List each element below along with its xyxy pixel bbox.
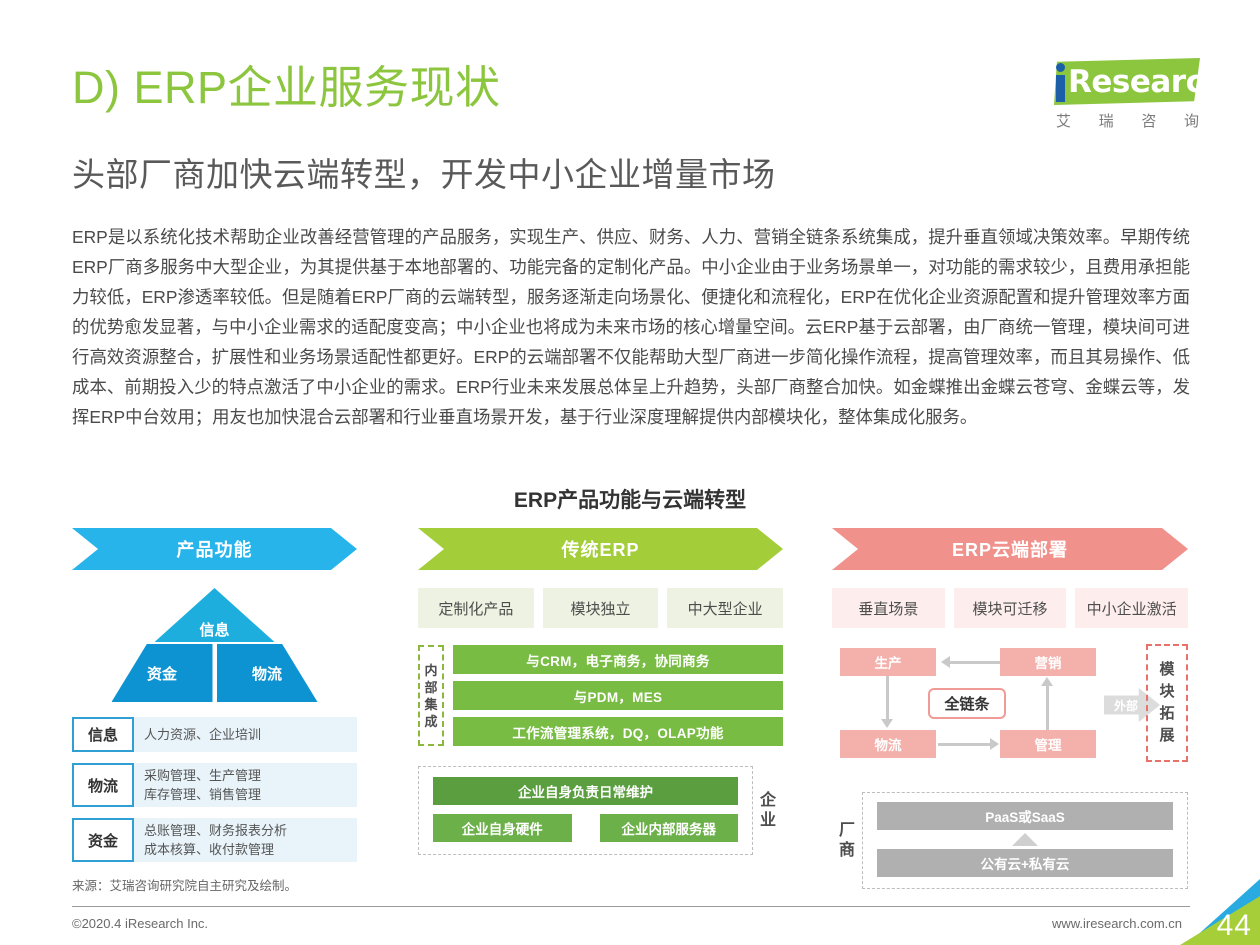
int-label-c3: 集 (424, 696, 437, 713)
vendor-bottom-bar: 公有云+私有云 (877, 849, 1173, 877)
flow-center-chain: 全链条 (928, 688, 1006, 719)
int-label-c2: 部 (424, 679, 437, 696)
page-subtitle: 头部厂商加快云端转型，开发中小企业增量市场 (72, 148, 776, 196)
flow-arrowhead-right (990, 738, 999, 750)
flow-node-management: 管理 (1000, 730, 1096, 758)
enterprise-side-c1: 企 (760, 791, 776, 811)
pyramid-diagram: 信息 资金 物流 (72, 588, 357, 706)
legend-value-line: 采购管理、生产管理 (144, 766, 347, 785)
pyramid-bottom-right-label: 物流 (252, 663, 282, 684)
column-erp-cloud: ERP云端部署 垂直场景 模块可迁移 中小企业激活 生产 营销 物流 管理 全链… (832, 528, 1188, 889)
up-caret-icon (1012, 833, 1038, 846)
internal-integration-bars: 与CRM，电子商务，协同商务 与PDM，MES 工作流管理系统，DQ，OLAP功… (453, 645, 783, 746)
module-ext-c2: 块 (1159, 681, 1174, 703)
flow-node-marketing: 营销 (1000, 648, 1096, 676)
logo-wordmark: Research (1068, 64, 1225, 100)
enterprise-bottom-row: 企业自身硬件 企业内部服务器 (433, 814, 738, 842)
source-note: 来源：艾瑞咨询研究院自主研究及绘制。 (72, 875, 357, 894)
tag-item: 中小企业激活 (1075, 588, 1188, 628)
tag-item: 模块可迁移 (954, 588, 1067, 628)
legend-value: 采购管理、生产管理 库存管理、销售管理 (134, 763, 357, 807)
flow-arrow-marketing-to-production (950, 661, 1000, 664)
vendor-panel: 厂 商 PaaS或SaaS 公有云+私有云 (832, 792, 1188, 889)
internal-integration-block: 内 部 集 成 与CRM，电子商务，协同商务 与PDM，MES 工作流管理系统，… (418, 645, 783, 746)
column-product-function: 产品功能 信息 资金 物流 信息 人力资源、企业培训 物流 采购管理、生产管理 … (72, 528, 357, 894)
module-ext-c3: 拓 (1159, 703, 1174, 725)
vendor-side-c1: 厂 (839, 821, 855, 841)
legend-value-line: 库存管理、销售管理 (144, 785, 347, 804)
tag-item: 模块独立 (543, 588, 659, 628)
tag-item: 垂直场景 (832, 588, 945, 628)
banner-erp-cloud: ERP云端部署 (832, 528, 1188, 570)
legend-row: 资金 总账管理、财务报表分析 成本核算、收付款管理 (72, 818, 357, 862)
legend-row: 信息 人力资源、企业培训 (72, 717, 357, 752)
legend-value-line: 总账管理、财务报表分析 (144, 821, 347, 840)
flow-arrowhead-left (941, 656, 950, 668)
flow-arrow-production-to-logistics (886, 676, 889, 719)
logo-cn-char-4: 询 (1184, 110, 1200, 131)
page-number: 44 (1217, 909, 1252, 943)
pyramid-bottom-left-label: 资金 (147, 663, 177, 684)
iresearch-logo: Research 艾 瑞 咨 询 (1032, 58, 1200, 140)
flow-diagram: 生产 营销 物流 管理 全链条 外部 模 块 拓 (832, 644, 1188, 772)
tag-row-traditional: 定制化产品 模块独立 中大型企业 (418, 588, 783, 628)
logo-cn-char-2: 瑞 (1099, 110, 1115, 131)
chart-title: ERP产品功能与云端转型 (0, 484, 1260, 514)
module-ext-c1: 模 (1159, 659, 1174, 681)
page-title: D) ERP企业服务现状 (72, 63, 501, 113)
enterprise-bottom-bar: 企业内部服务器 (600, 814, 739, 842)
int-label-c4: 成 (424, 713, 437, 730)
slide-page: D) ERP企业服务现状 头部厂商加快云端转型，开发中小企业增量市场 Resea… (0, 0, 1260, 945)
enterprise-side-c2: 业 (760, 811, 776, 831)
legend-key: 资金 (72, 818, 134, 862)
footer-copyright: ©2020.4 iResearch Inc. (72, 916, 208, 931)
logo-chinese-name: 艾 瑞 咨 询 (1056, 110, 1200, 131)
legend-row: 物流 采购管理、生产管理 库存管理、销售管理 (72, 763, 357, 807)
logo-cn-char-3: 咨 (1141, 110, 1157, 131)
integration-bar: 工作流管理系统，DQ，OLAP功能 (453, 717, 783, 746)
column-traditional-erp: 传统ERP 定制化产品 模块独立 中大型企业 内 部 集 成 与CRM，电子商务… (418, 528, 783, 855)
legend-value: 总账管理、财务报表分析 成本核算、收付款管理 (134, 818, 357, 862)
module-extension-box: 模 块 拓 展 (1146, 644, 1188, 762)
pyramid-bottom-right-segment: 物流 (217, 644, 318, 702)
integration-bar: 与CRM，电子商务，协同商务 (453, 645, 783, 674)
vendor-side-label: 厂 商 (832, 792, 862, 889)
enterprise-top-bar: 企业自身负责日常维护 (433, 777, 738, 805)
tag-row-cloud: 垂直场景 模块可迁移 中小企业激活 (832, 588, 1188, 628)
banner-product-function: 产品功能 (72, 528, 357, 570)
footer-divider (72, 906, 1190, 907)
page-number-badge: 44 (1180, 879, 1260, 945)
logo-cn-char-1: 艾 (1056, 110, 1072, 131)
enterprise-panel-inner: 企业自身负责日常维护 企业自身硬件 企业内部服务器 (418, 766, 753, 855)
body-paragraph: ERP是以系统化技术帮助企业改善经营管理的产品服务，实现生产、供应、财务、人力、… (72, 222, 1190, 432)
vendor-top-bar: PaaS或SaaS (877, 802, 1173, 830)
flow-node-logistics: 物流 (840, 730, 936, 758)
legend-value: 人力资源、企业培训 (134, 717, 357, 752)
tag-item: 中大型企业 (667, 588, 783, 628)
int-label-c1: 内 (424, 662, 437, 679)
enterprise-side-label: 企 业 (753, 766, 783, 855)
logo-i-dot-icon (1056, 63, 1065, 72)
module-ext-c4: 展 (1159, 725, 1174, 747)
flow-arrowhead-up (1041, 677, 1053, 686)
pyramid-top-segment: 信息 (155, 588, 275, 642)
vendor-panel-inner: PaaS或SaaS 公有云+私有云 (862, 792, 1188, 889)
flow-arrow-logistics-to-management (938, 743, 990, 746)
footer-website: www.iresearch.com.cn (1052, 916, 1182, 931)
flow-arrowhead-down (881, 719, 893, 728)
legend-value-line: 成本核算、收付款管理 (144, 840, 347, 859)
tag-item: 定制化产品 (418, 588, 534, 628)
banner-traditional-erp: 传统ERP (418, 528, 783, 570)
enterprise-panel: 企业自身负责日常维护 企业自身硬件 企业内部服务器 企 业 (418, 766, 783, 855)
external-arrow-label: 外部 (1114, 697, 1138, 714)
pyramid-top-label: 信息 (199, 619, 229, 642)
logo-i-stem-icon (1056, 75, 1065, 102)
legend-key: 物流 (72, 763, 134, 807)
legend-key: 信息 (72, 717, 134, 752)
enterprise-bottom-bar: 企业自身硬件 (433, 814, 572, 842)
flow-node-production: 生产 (840, 648, 936, 676)
vendor-side-c2: 商 (839, 841, 855, 861)
internal-integration-label: 内 部 集 成 (418, 645, 444, 746)
integration-bar: 与PDM，MES (453, 681, 783, 710)
legend-value-line: 人力资源、企业培训 (144, 725, 347, 744)
pyramid-bottom-left-segment: 资金 (112, 644, 213, 702)
flow-arrow-management-to-marketing (1046, 686, 1049, 730)
